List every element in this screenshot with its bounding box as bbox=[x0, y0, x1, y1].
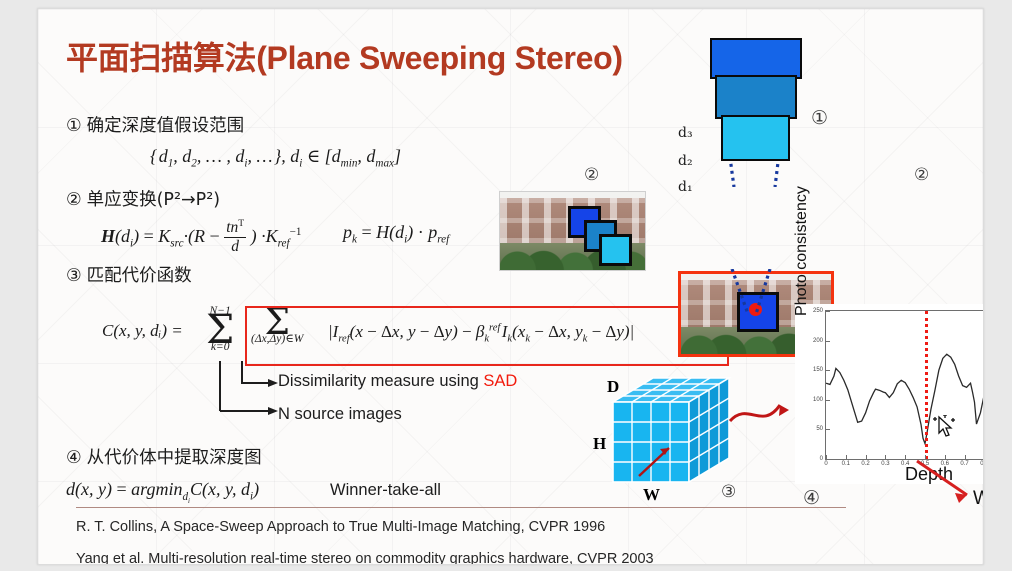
cube-label-height: H bbox=[593, 434, 606, 454]
marker-2-right: ② bbox=[914, 165, 929, 185]
page-title: 平面扫描算法(Plane Sweeping Stereo) bbox=[66, 33, 623, 79]
citation-1: R. T. Collins, A Space-Sweep Approach to… bbox=[76, 519, 605, 535]
patch-d1-left bbox=[599, 234, 632, 266]
mouse-cursor bbox=[931, 415, 961, 445]
step-1-heading: 确定深度值假设范围 bbox=[87, 116, 245, 136]
x-tick-0.1: 0.1 bbox=[842, 461, 850, 467]
marker-1: ① bbox=[811, 107, 828, 129]
step-3: ③ 匹配代价函数 bbox=[66, 262, 192, 287]
step-4-heading: 从代价体中提取深度图 bbox=[87, 448, 262, 468]
cost-volume-cube: D H W ③ bbox=[591, 372, 751, 507]
footer-divider bbox=[76, 507, 846, 508]
depth-label-d3: d₃ bbox=[678, 125, 693, 141]
depth-plane-d1 bbox=[721, 115, 790, 161]
depth-plane-d2 bbox=[715, 75, 797, 119]
winner-label: Winner bbox=[973, 488, 984, 510]
chart-y-axis-label: Photo consistency bbox=[793, 186, 811, 316]
winner-depth-marker-line bbox=[925, 311, 928, 459]
formula-homography: H(di) = Ksrc·(R − tnTd ) ·Kref−1 bbox=[101, 219, 301, 256]
cost-function-lhs: C(x, y, dᵢ) = bbox=[102, 321, 183, 341]
plane-sweep-frustum: d₃ d₂ d₁ ① bbox=[653, 27, 853, 177]
annotation-n-source: N source images bbox=[278, 405, 402, 424]
y-tick-150: 150 bbox=[813, 367, 823, 373]
y-tick-0: 0 bbox=[820, 456, 823, 462]
step-2: ② 单应变换(P²→P²) bbox=[66, 186, 220, 211]
photo-consistency-chart: Photo consistency 0 50 100 150 200 250 0… bbox=[795, 304, 984, 484]
slide-canvas: 平面扫描算法(Plane Sweeping Stereo) ① 确定深度值假设范… bbox=[37, 8, 984, 565]
depth-label-d1: d₁ bbox=[678, 179, 693, 195]
y-tick-200: 200 bbox=[813, 338, 823, 344]
annotation-dissimilarity-text: Dissimilarity measure using bbox=[278, 372, 483, 390]
citation-2: Yang et al. Multi-resolution real-time s… bbox=[76, 551, 654, 565]
y-tick-100: 100 bbox=[813, 397, 823, 403]
marker-2-left: ② bbox=[584, 165, 599, 185]
cost-function-highlight-box bbox=[245, 306, 729, 366]
formula-point-map: pk = H(di) · pref bbox=[343, 222, 449, 243]
depth-plane-d3 bbox=[710, 38, 802, 79]
source-image-left bbox=[499, 191, 646, 271]
x-tick-0: 0 bbox=[824, 461, 827, 467]
marker-4: ④ bbox=[803, 487, 820, 509]
cube-label-depth: D bbox=[607, 377, 619, 397]
y-tick-250: 250 bbox=[813, 308, 823, 314]
step-2-heading: 单应变换(P²→P²) bbox=[87, 190, 220, 210]
x-tick-0.2: 0.2 bbox=[861, 461, 869, 467]
formula-argmin: d(x, y) = argmindiC(x, y, di) bbox=[66, 479, 259, 502]
cube-label-width: W bbox=[643, 485, 660, 505]
step-4: ④ 从代价体中提取深度图 bbox=[66, 444, 262, 469]
x-tick-0.3: 0.3 bbox=[881, 461, 889, 467]
step-3-marker: ③ bbox=[66, 265, 82, 285]
cost-function-outer-sum: N−1 Σ k=0 bbox=[206, 305, 234, 353]
depth-label-d2: d₂ bbox=[678, 153, 693, 169]
step-3-heading: 匹配代价函数 bbox=[87, 266, 192, 286]
step-1-marker: ① bbox=[66, 115, 82, 135]
step-4-marker: ④ bbox=[66, 447, 82, 467]
marker-3: ③ bbox=[721, 482, 736, 502]
formula-depth-range: { d1, d2, … , di, … }, di ∈ [dmin, dmax] bbox=[150, 146, 401, 167]
step-2-marker: ② bbox=[66, 189, 82, 209]
step-1: ① 确定深度值假设范围 bbox=[66, 112, 244, 137]
annotation-dissimilarity: Dissimilarity measure using SAD bbox=[278, 372, 517, 391]
annotation-sad-label: SAD bbox=[483, 372, 517, 390]
winner-take-all-label: Winner-take-all bbox=[330, 481, 441, 500]
y-tick-50: 50 bbox=[816, 426, 823, 432]
